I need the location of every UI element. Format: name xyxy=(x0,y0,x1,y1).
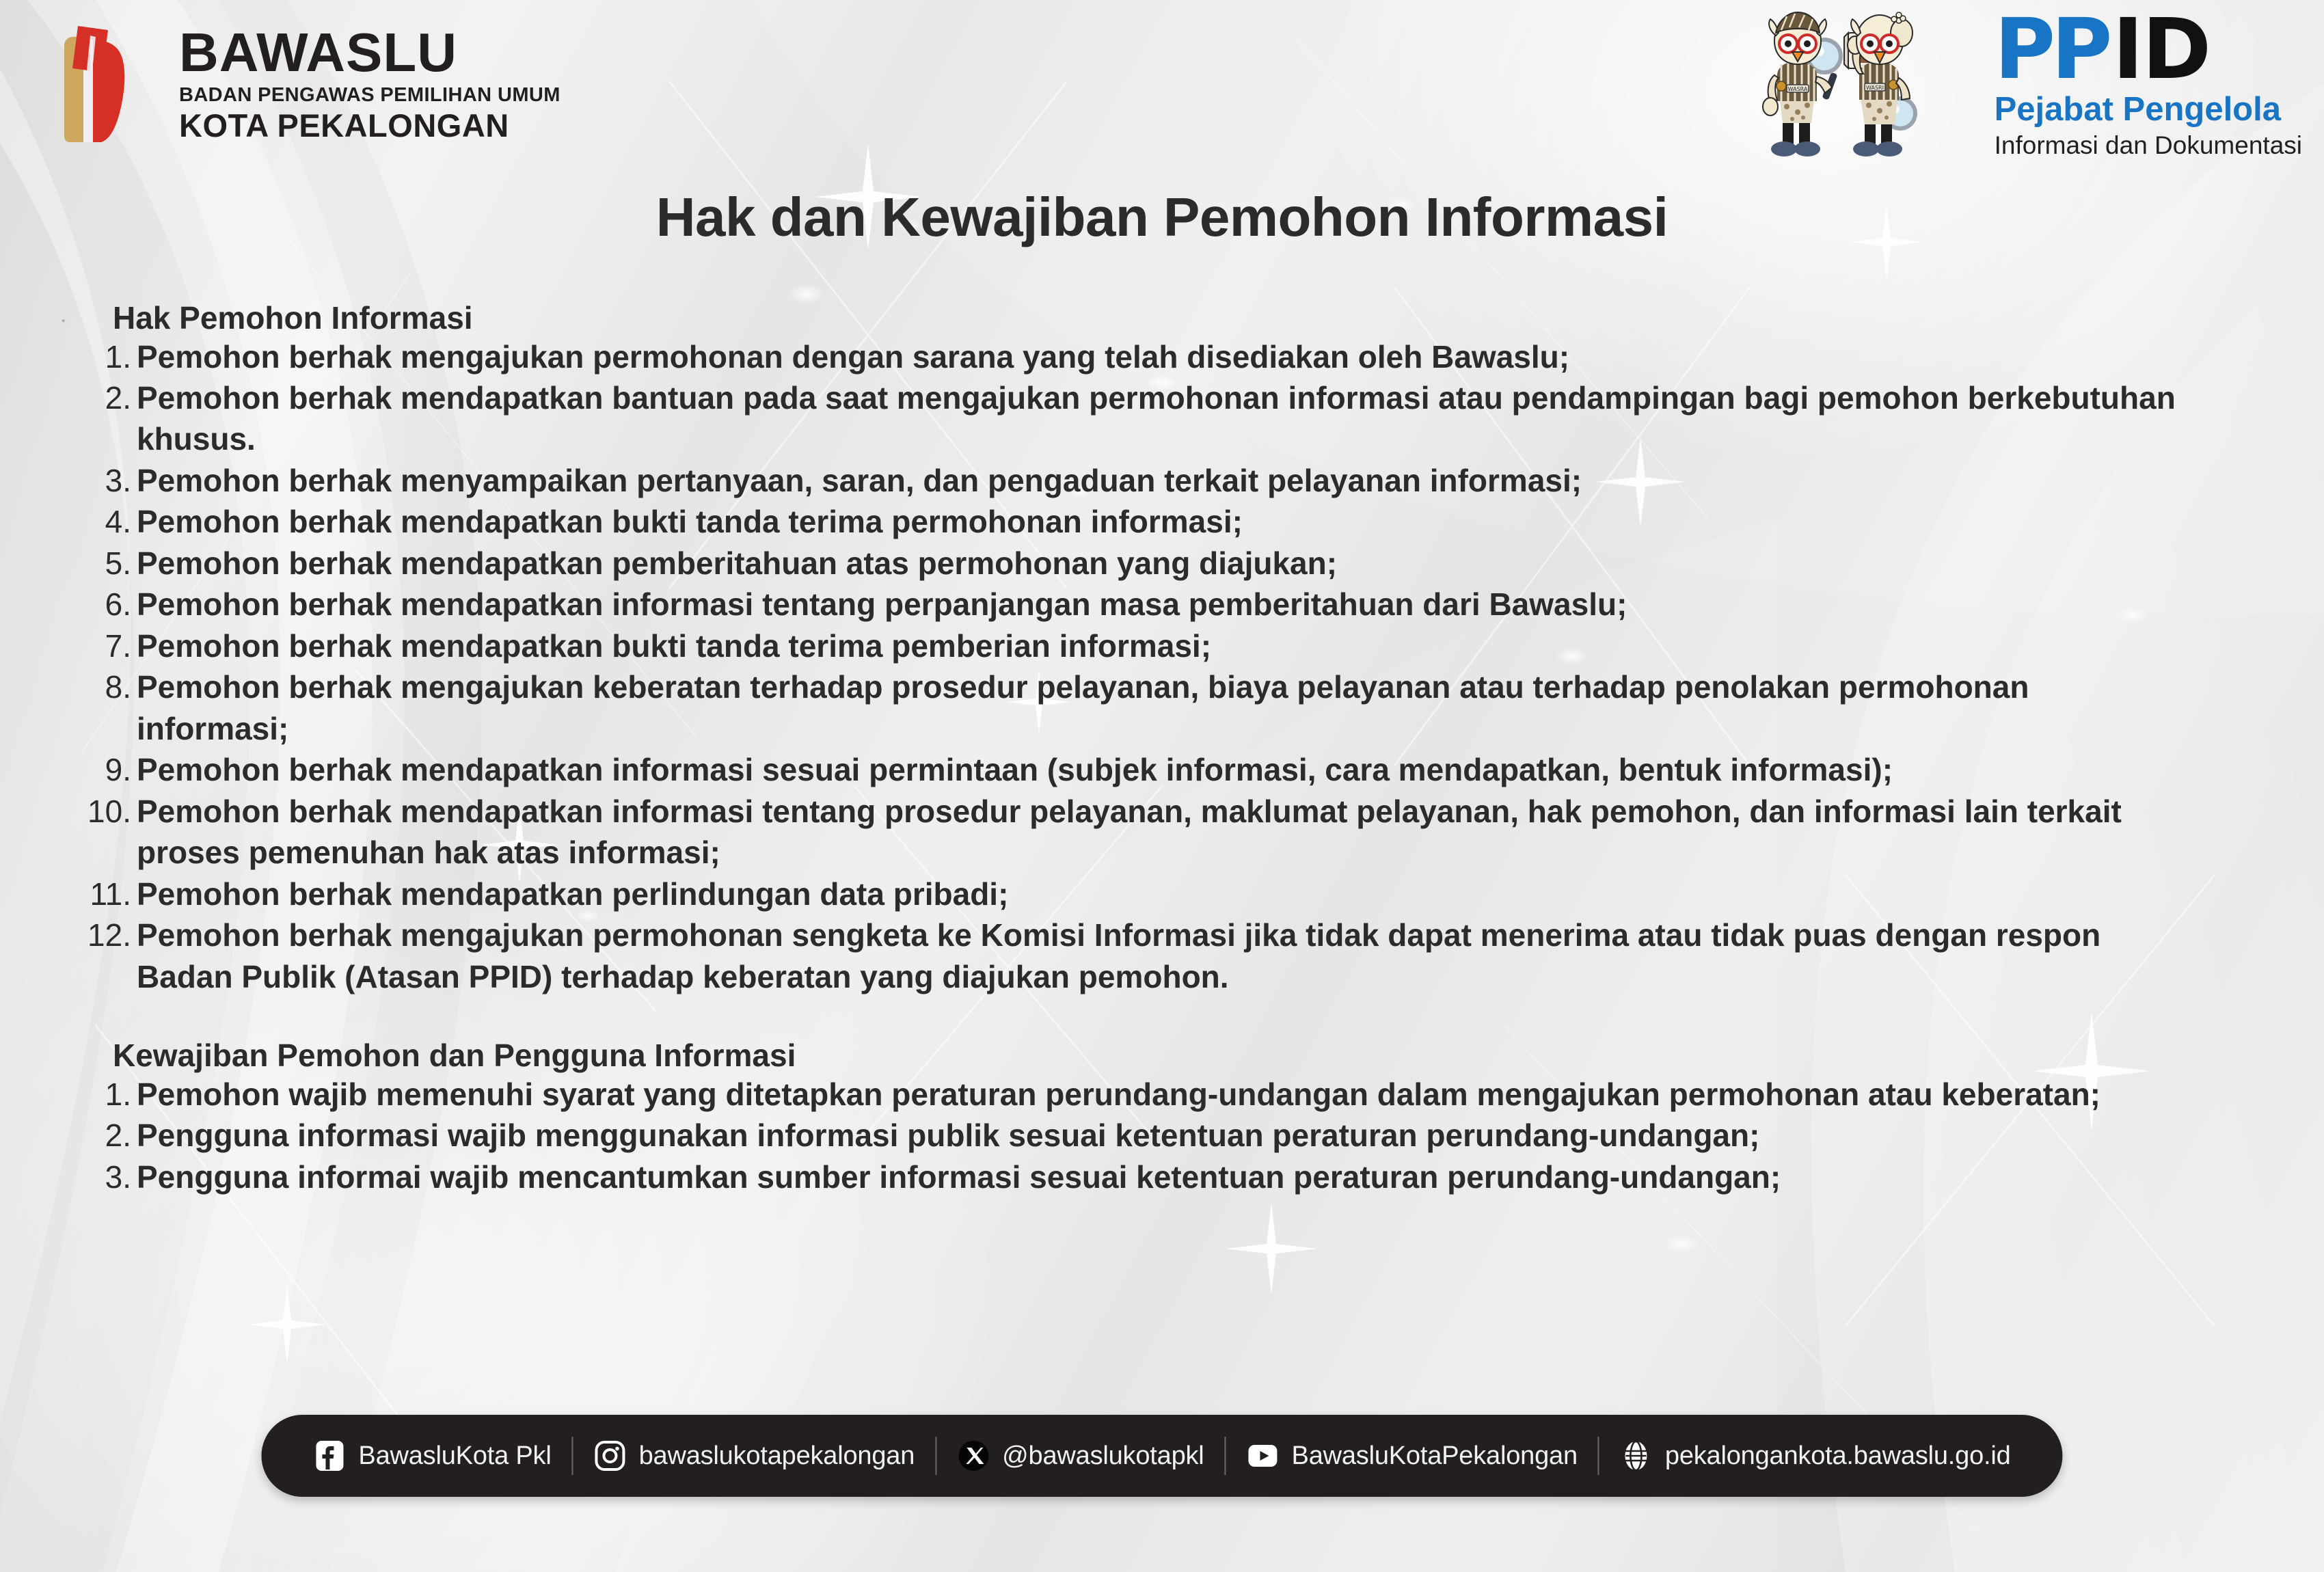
social-item-instagram[interactable]: bawaslukotapekalongan xyxy=(573,1439,936,1472)
slide-canvas: BAWASLU BADAN PENGAWAS PEMILIHAN UMUM KO… xyxy=(0,0,2324,1572)
list-number: 2. xyxy=(62,1115,137,1156)
social-item-website[interactable]: pekalongankota.bawaslu.go.id xyxy=(1599,1439,2031,1472)
ppid-pp-text: PP xyxy=(1995,12,2109,87)
section-heading-text: Kewajiban Pemohon dan Pengguna Informasi xyxy=(113,1038,796,1073)
list-kewajiban: 1. Pemohon wajib memenuhi syarat yang di… xyxy=(62,1074,2269,1197)
list-number: 9. xyxy=(62,749,137,790)
svg-text:WASRI: WASRI xyxy=(1866,85,1884,91)
youtube-icon xyxy=(1247,1439,1280,1472)
list-text: Pemohon berhak mengajukan permohonan den… xyxy=(137,336,1651,377)
list-item: 1. Pemohon wajib memenuhi syarat yang di… xyxy=(62,1074,2269,1115)
list-text: Pemohon berhak mengajukan keberatan terh… xyxy=(137,666,2269,749)
page-title: Hak dan Kewajiban Pemohon Informasi xyxy=(0,186,2324,249)
list-number: 11. xyxy=(62,873,137,914)
list-number: 1. xyxy=(62,1074,137,1115)
list-item: 10. Pemohon berhak mendapatkan informasi… xyxy=(62,791,2269,873)
social-item-facebook[interactable]: BawasluKota Pkl xyxy=(293,1439,571,1472)
list-item: 1. Pemohon berhak mengajukan permohonan … xyxy=(62,336,2269,377)
bawaslu-wordmark: BAWASLU BADAN PENGAWAS PEMILIHAN UMUM KO… xyxy=(179,25,560,141)
section-spacer xyxy=(62,997,2269,1038)
list-number: 10. xyxy=(62,791,137,832)
list-item: 12. Pemohon berhak mengajukan permohonan… xyxy=(62,914,2269,997)
social-item-youtube[interactable]: BawasluKotaPekalongan xyxy=(1226,1439,1598,1472)
section-heading-text: Hak Pemohon Informasi xyxy=(113,300,473,336)
ppid-wordmark: PP ID Pejabat Pengelola Informasi dan Do… xyxy=(1995,10,2302,160)
list-text: Pemohon berhak mendapatkan bantuan pada … xyxy=(137,377,2269,460)
bawaslu-mark-icon xyxy=(25,15,161,152)
wasra-wasri-mascots-icon: WASRA xyxy=(1757,10,1982,168)
list-number: 3. xyxy=(62,1156,137,1197)
section-kewajiban: Kewajiban Pemohon dan Pengguna Informasi… xyxy=(62,1038,2269,1197)
list-item: 8. Pemohon berhak mengajukan keberatan t… xyxy=(62,666,2269,749)
x-twitter-icon xyxy=(957,1439,990,1472)
list-text: Pemohon wajib memenuhi syarat yang ditet… xyxy=(137,1074,2183,1115)
social-item-x-twitter[interactable]: @bawaslukotapkl xyxy=(936,1439,1224,1472)
list-text: Pemohon berhak mendapatkan bukti tanda t… xyxy=(137,625,1293,666)
list-item: 3. Pemohon berhak menyampaikan pertanyaa… xyxy=(62,460,2269,501)
list-number: 4. xyxy=(62,501,137,542)
list-text: Pemohon berhak mendapatkan perlindungan … xyxy=(137,873,1090,914)
ppid-tagline-2: Informasi dan Dokumentasi xyxy=(1995,131,2302,160)
list-text: Pemohon berhak mendapatkan informasi ten… xyxy=(137,791,2269,873)
list-number: 6. xyxy=(62,584,137,625)
ppid-tagline-1: Pejabat Pengelola xyxy=(1995,90,2281,128)
bawaslu-subtitle-2: KOTA PEKALONGAN xyxy=(179,109,560,141)
list-item: 6. Pemohon berhak mendapatkan informasi … xyxy=(62,584,2269,625)
list-number: 1. xyxy=(62,336,137,377)
bawaslu-subtitle-1: BADAN PENGAWAS PEMILIHAN UMUM xyxy=(179,85,560,105)
list-text: Pemohon berhak mendapatkan pemberitahuan… xyxy=(137,543,1419,584)
square-bullet-icon: ▪ xyxy=(62,316,65,326)
list-text: Pengguna informai wajib mencantumkan sum… xyxy=(137,1156,1863,1197)
list-item: 4. Pemohon berhak mendapatkan bukti tand… xyxy=(62,501,2269,542)
list-text: Pengguna informasi wajib menggunakan inf… xyxy=(137,1115,1841,1156)
ppid-logo-block: WASRA xyxy=(1757,10,2302,168)
svg-text:WASRA: WASRA xyxy=(1787,86,1807,92)
list-item: 2. Pemohon berhak mendapatkan bantuan pa… xyxy=(62,377,2269,460)
list-text: Pemohon berhak mendapatkan informasi ten… xyxy=(137,584,1709,625)
list-item: 5. Pemohon berhak mendapatkan pemberitah… xyxy=(62,543,2269,584)
social-label: bawaslukotapekalongan xyxy=(639,1441,915,1471)
slide-body: ▪ Hak Pemohon Informasi 1. Pemohon berha… xyxy=(62,301,2269,1197)
list-number: 3. xyxy=(62,460,137,501)
list-number: 12. xyxy=(62,914,137,956)
list-item: 2. Pengguna informasi wajib menggunakan … xyxy=(62,1115,2269,1156)
list-hak: 1. Pemohon berhak mengajukan permohonan … xyxy=(62,336,2269,998)
social-label: pekalongankota.bawaslu.go.id xyxy=(1665,1441,2011,1471)
social-label: BawasluKota Pkl xyxy=(358,1441,551,1471)
bawaslu-logo: BAWASLU BADAN PENGAWAS PEMILIHAN UMUM KO… xyxy=(25,15,560,152)
section-heading-hak: ▪ Hak Pemohon Informasi xyxy=(113,301,2269,336)
section-hak: ▪ Hak Pemohon Informasi 1. Pemohon berha… xyxy=(62,301,2269,997)
list-item: 3. Pengguna informai wajib mencantumkan … xyxy=(62,1156,2269,1197)
section-heading-kewajiban: Kewajiban Pemohon dan Pengguna Informasi xyxy=(113,1038,2269,1074)
facebook-icon xyxy=(313,1439,346,1472)
list-text: Pemohon berhak mendapatkan bukti tanda t… xyxy=(137,501,1325,542)
list-text: Pemohon berhak menyampaikan pertanyaan, … xyxy=(137,460,1664,501)
list-number: 5. xyxy=(62,543,137,584)
list-item: 11. Pemohon berhak mendapatkan perlindun… xyxy=(62,873,2269,914)
instagram-icon xyxy=(594,1439,627,1472)
social-media-bar: BawasluKota Pkl bawaslukotapekalongan @b… xyxy=(261,1415,2062,1497)
social-label: BawasluKotaPekalongan xyxy=(1292,1441,1578,1471)
ppid-id-text: ID xyxy=(2112,12,2210,87)
bawaslu-name: BAWASLU xyxy=(179,25,560,80)
social-label: @bawaslukotapkl xyxy=(1002,1441,1204,1471)
list-item: 7. Pemohon berhak mendapatkan bukti tand… xyxy=(62,625,2269,666)
list-number: 2. xyxy=(62,377,137,418)
list-text: Pemohon berhak mendapatkan informasi ses… xyxy=(137,749,1975,790)
list-text: Pemohon berhak mengajukan permohonan sen… xyxy=(137,914,2269,997)
list-number: 7. xyxy=(62,625,137,666)
globe-icon xyxy=(1620,1439,1653,1472)
list-number: 8. xyxy=(62,666,137,707)
list-item: 9. Pemohon berhak mendapatkan informasi … xyxy=(62,749,2269,790)
